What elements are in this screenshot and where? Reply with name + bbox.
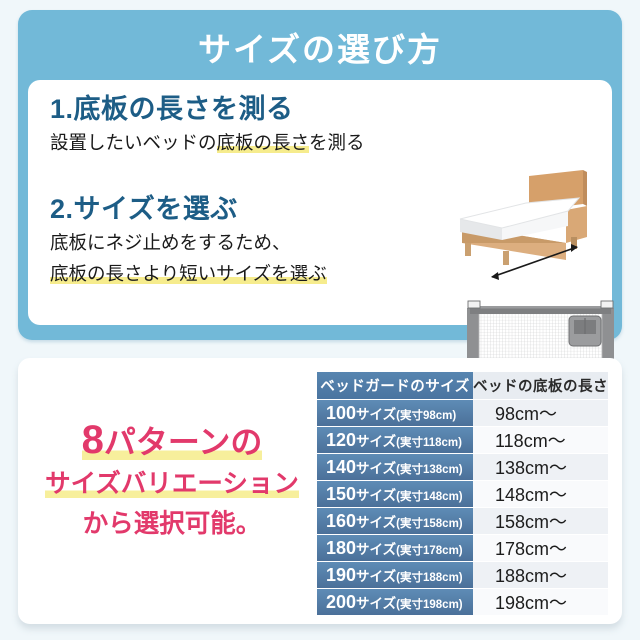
table-row: 150サイズ(実寸148cm) 148cm～ [317,481,608,507]
step-2-body-line-1: 底板にネジ止めをするため、 [50,229,327,257]
step-1: 1.底板の長さを測る 設置したいベッドの底板の長さを測る [50,92,365,157]
promo-line-3: から選択可能。 [36,504,308,544]
cell-base-length: 138cm～ [473,454,608,480]
cell-base-length: 178cm～ [473,535,608,561]
size-variations-card: 8パターンの サイズバリエーション から選択可能。 ベッドガードのサイズ ベッド… [18,358,622,624]
cell-base-length: 118cm～ [473,427,608,453]
infographic-page: サイズの選び方 1.底板の長さを測る 設置したいベッドの底板の長さを測る 2.サ… [0,0,640,640]
cell-base-length: 188cm～ [473,562,608,588]
table-row: 100サイズ(実寸98cm) 98cm～ [317,400,608,426]
cell-guard-size: 120サイズ(実寸118cm) [317,427,473,453]
table-header-guard-size: ベッドガードのサイズ [317,372,473,399]
bed-illustration [446,164,611,284]
promo-text: 8パターンの サイズバリエーション から選択可能。 [36,418,308,544]
step-1-heading: 1.底板の長さを測る [50,92,365,126]
table-header-row: ベッドガードのサイズ ベッドの底板の長さ [317,372,608,399]
table-header-base-length: ベッドの底板の長さ [473,372,608,399]
promo-line-1: 8パターンの [36,418,308,464]
cell-base-length: 158cm～ [473,508,608,534]
cell-guard-size: 140サイズ(実寸138cm) [317,454,473,480]
bed-icon [446,164,611,284]
cell-guard-size: 160サイズ(実寸158cm) [317,508,473,534]
cell-guard-size: 180サイズ(実寸178cm) [317,535,473,561]
cell-guard-size: 150サイズ(実寸148cm) [317,481,473,507]
table-row: 200サイズ(実寸198cm) 198cm～ [317,589,608,615]
table-row: 160サイズ(実寸158cm) 158cm～ [317,508,608,534]
step-2: 2.サイズを選ぶ 底板にネジ止めをするため、 底板の長さより短いサイズを選ぶ [50,192,327,288]
step-2-body-line-2: 底板の長さより短いサイズを選ぶ [50,260,327,288]
cell-base-length: 148cm～ [473,481,608,507]
step-1-body: 設置したいベッドの底板の長さを測る [50,129,365,157]
size-table: ベッドガードのサイズ ベッドの底板の長さ 100サイズ(実寸98cm) 98cm… [317,371,608,616]
cell-base-length: 198cm～ [473,589,608,615]
promo-line-1-rest: パターンの [104,424,262,460]
step-2-heading: 2.サイズを選ぶ [50,192,327,226]
promo-pattern-count: 8 [82,418,104,462]
step-2-body-highlight: 底板の長さより短いサイズを選ぶ [50,263,327,284]
cell-guard-size: 200サイズ(実寸198cm) [317,589,473,615]
steps-panel: 1.底板の長さを測る 設置したいベッドの底板の長さを測る 2.サイズを選ぶ 底板… [28,80,612,325]
cell-guard-size: 100サイズ(実寸98cm) [317,400,473,426]
table-row: 190サイズ(実寸188cm) 188cm～ [317,562,608,588]
cell-base-length: 98cm～ [473,400,608,426]
how-to-choose-card: サイズの選び方 1.底板の長さを測る 設置したいベッドの底板の長さを測る 2.サ… [18,10,622,340]
page-title: サイズの選び方 [18,26,622,74]
cell-guard-size: 190サイズ(実寸188cm) [317,562,473,588]
step-1-body-post: を測る [309,132,365,153]
step-1-body-highlight: 底板の長さ [217,132,310,153]
table-row: 120サイズ(実寸118cm) 118cm～ [317,427,608,453]
promo-line-2: サイズバリエーション [36,464,308,504]
table-row: 140サイズ(実寸138cm) 138cm～ [317,454,608,480]
table-row: 180サイズ(実寸178cm) 178cm～ [317,535,608,561]
step-1-body-pre: 設置したいベッドの [50,132,217,153]
